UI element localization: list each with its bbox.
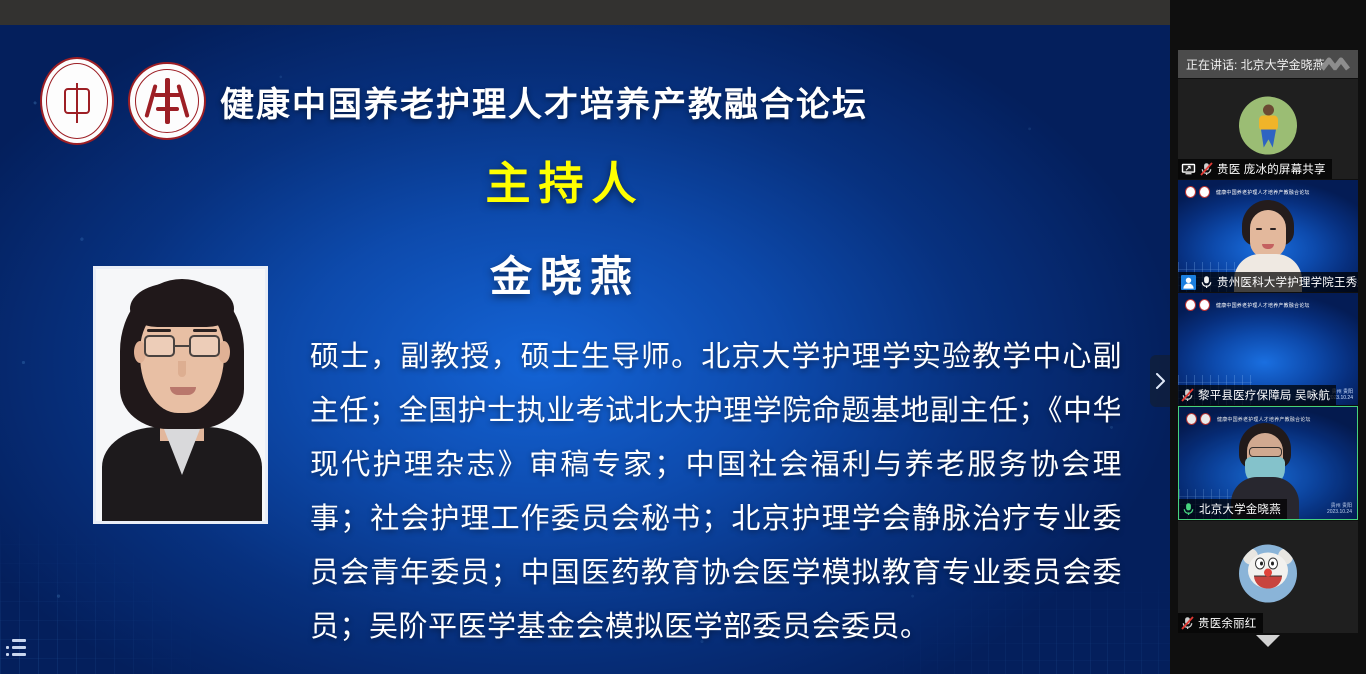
slide-forum-title: 健康中国养老护理人才培养产教融合论坛 [220,77,868,126]
participant-icon [1181,275,1196,290]
participant-tile-wuyonghang[interactable]: 健康中国养老护理人才培养产教融合论坛 贵州 贵阳 2023.10.24 [1178,293,1358,405]
participant-tile-jinxiaoyan[interactable]: 健康中国养老护理人才培养产教融合论坛 贵州 贵阳 2023.10.24 [1178,406,1358,520]
chevron-right-icon[interactable] [1150,355,1170,407]
participant-tile-wangxiuhong[interactable]: 健康中国养老护理人才培养产教融合论坛 [1178,180,1358,292]
doraemon-avatar [1239,545,1297,603]
slide-header: 健康中国养老护理人才培养产教融合论坛 [40,57,868,145]
tile-participant-name: 贵医 庞冰的屏幕共享 [1217,161,1326,177]
shared-screen-content: 健康中国养老护理人才培养产教融合论坛 主持人 金晓燕 硕士，副教授，硕士生导师。… [0,25,1170,674]
participant-filmstrip: 正在讲话: 北京大学金晓燕 [1170,0,1366,674]
tile-label: 黎平县医疗保障局 吴咏航 [1178,385,1336,405]
participant-tile-yulihong[interactable]: 贵医余丽红 [1178,521,1358,633]
app-root: 健康中国养老护理人才培养产教融合论坛 主持人 金晓燕 硕士，副教授，硕士生导师。… [0,0,1366,674]
tile-forum-title: 健康中国养老护理人才培养产教融合论坛 [1216,302,1310,309]
tile-label: 贵医余丽红 [1178,613,1263,633]
tile-timestamp: 贵州 贵阳 2023.10.24 [1327,503,1352,515]
active-speaker-label: 正在讲话: 北京大学金晓燕 [1186,56,1325,73]
tile-label: 贵医 庞冰的屏幕共享 [1178,159,1332,179]
tile-participant-name: 贵医余丽红 [1198,615,1257,631]
mic-on-icon [1200,275,1213,289]
mic-on-green-icon [1182,502,1195,516]
speaker-bio-text: 硕士，副教授，硕士生导师。北京大学护理学实验教学中心副主任；全国护士执业考试北大… [310,330,1122,654]
mic-muted-icon [1200,162,1213,176]
peking-university-logo [128,62,206,140]
green-person-avatar [1239,97,1297,155]
screen-share-icon [1181,163,1196,175]
tile-forum-title: 健康中国养老护理人才培养产教融合论坛 [1217,416,1311,423]
tile-forum-logos: 健康中国养老护理人才培养产教融合论坛 [1185,299,1310,311]
tile-participant-name: 黎平县医疗保障局 吴咏航 [1198,387,1330,403]
mic-muted-icon [1181,616,1194,630]
chevron-up-icon[interactable] [1318,54,1352,74]
triangle-down-icon[interactable] [1170,634,1366,648]
tile-label: 贵州医科大学护理学院王秀红 [1178,272,1358,292]
top-strip [0,0,1170,25]
tile-participant-name: 北京大学金晓燕 [1199,501,1281,517]
tile-forum-title: 健康中国养老护理人才培养产教融合论坛 [1216,189,1310,196]
tile-label: 北京大学金晓燕 [1179,499,1287,519]
tile-forum-logos: 健康中国养老护理人才培养产教融合论坛 [1185,186,1310,198]
slide-role-label: 主持人 [0,147,1130,212]
speaker-portrait-photo [93,266,268,524]
active-speaker-bar[interactable]: 正在讲话: 北京大学金晓燕 [1178,50,1358,78]
participant-tile-screen-share[interactable]: 贵医 庞冰的屏幕共享 [1178,79,1358,179]
list-icon[interactable] [6,639,28,660]
mic-muted-icon [1181,388,1194,402]
guizhou-medical-university-logo [40,57,114,145]
tile-participant-name: 贵州医科大学护理学院王秀红 [1217,274,1358,290]
